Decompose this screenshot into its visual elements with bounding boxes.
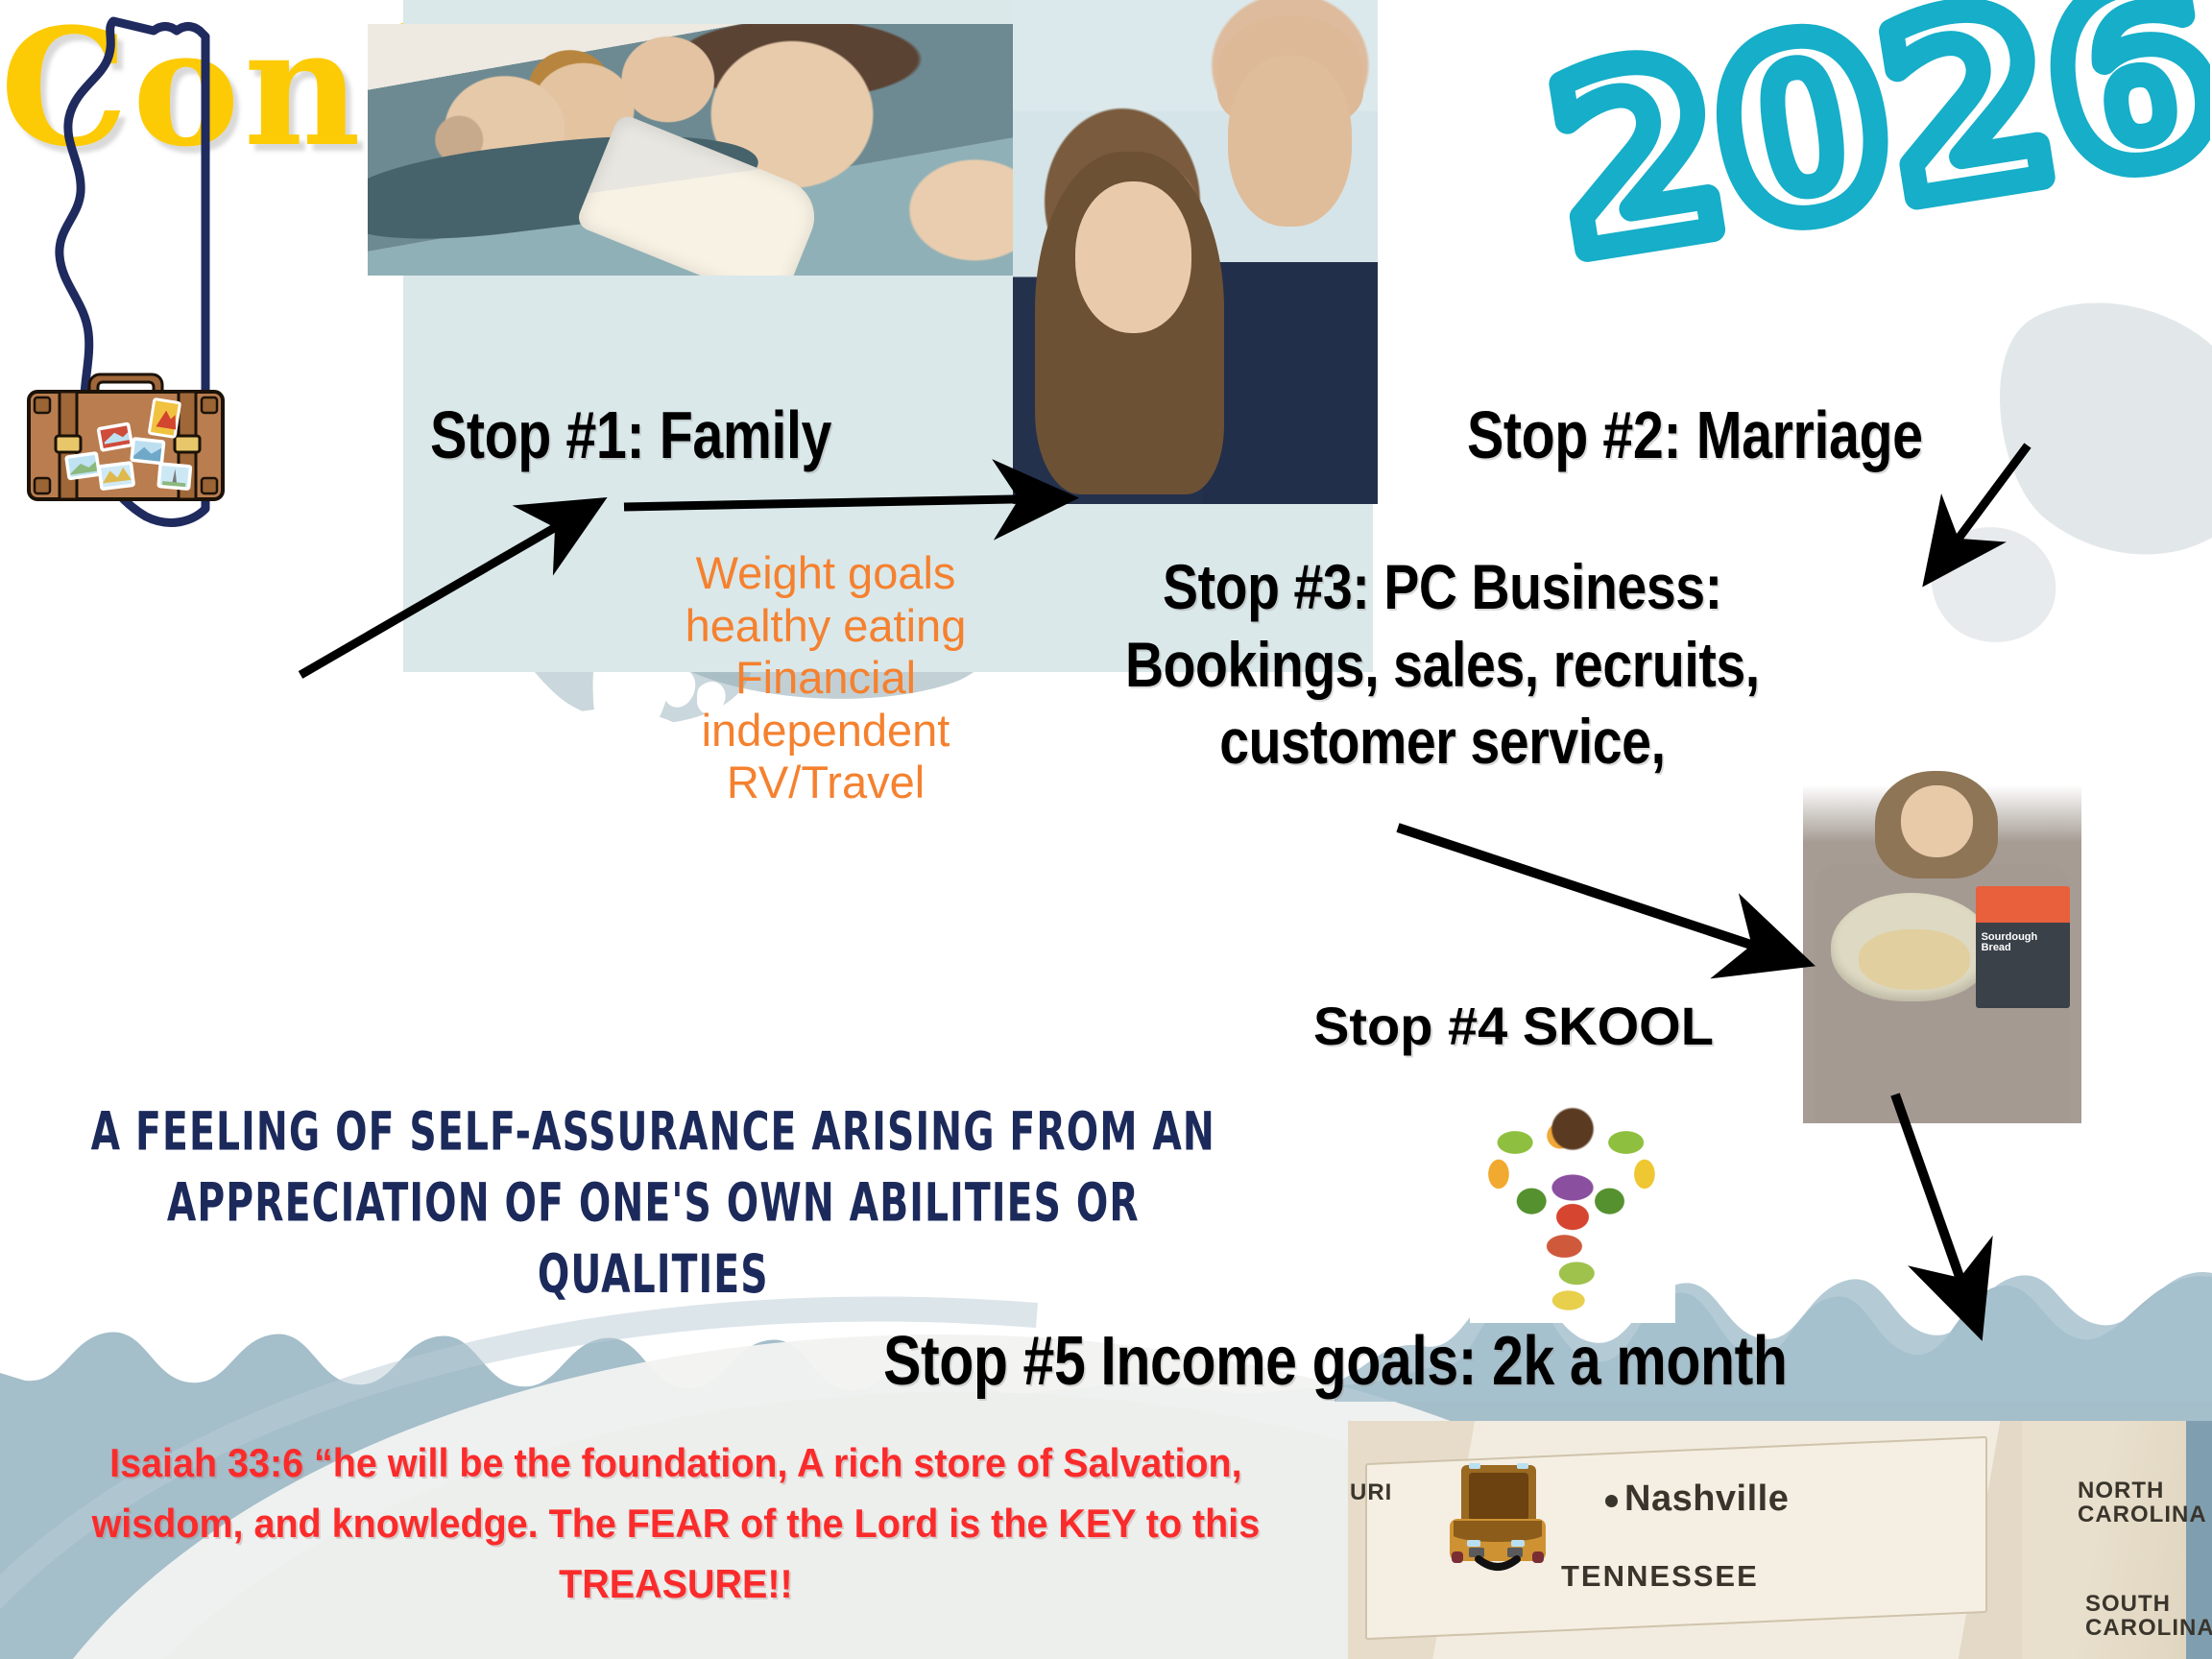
arrow-stop3-to-stop4 <box>1398 828 1797 960</box>
stop-5-label: Stop #5 Income goals: 2k a month <box>883 1327 1788 1396</box>
year-2026-heading: 2026 <box>1548 0 2210 301</box>
city-dot-icon <box>1605 1495 1618 1507</box>
map-label-nashville: Nashville <box>1605 1480 1789 1519</box>
stop-4-label: Stop #4 SKOOL <box>1313 999 1714 1053</box>
map-label-missouri: URI <box>1350 1480 1392 1504</box>
map-label-tennessee: TENNESSEE <box>1561 1561 1759 1593</box>
map-label-north-carolina: NORTH CAROLINA <box>2078 1479 2207 1527</box>
vintage-suitcase-sticker-icon <box>21 353 230 507</box>
stop-3-label: Stop #3: PC Business: Bookings, sales, r… <box>1125 548 1760 781</box>
stop-1-label: Stop #1: Family <box>430 401 831 469</box>
family-selfie-photo <box>368 24 1021 276</box>
scripture-verse: Isaiah 33:6 “he will be the foundation, … <box>58 1432 1294 1614</box>
sourdough-package-label: Sourdough Bread <box>1982 932 2065 965</box>
arrow-stop4-to-stop5 <box>1895 1094 1976 1323</box>
couple-portrait-photo <box>1013 0 1378 504</box>
stop-2-label: Stop #2: Marriage <box>1467 401 1923 469</box>
arrow-suitcase-to-stop1 <box>301 506 592 675</box>
confidence-definition: A FEELING OF SELF-ASSURANCE ARISING FROM… <box>19 1097 1287 1311</box>
map-label-south-carolina: SOUTH CAROLINA <box>2085 1592 2212 1640</box>
arrow-stop1-to-stop2 <box>624 498 1062 507</box>
open-suitcase-sticker-icon <box>1440 1459 1565 1573</box>
vegetable-strongman-graphic <box>1470 1097 1675 1323</box>
sourdough-baking-photo: Sourdough Bread <box>1803 763 2081 1123</box>
vision-board: 2026 Sourdough Bread URI Nashville TENNE <box>0 0 2212 1659</box>
year-2026-text: 2026 <box>1548 0 2210 301</box>
arrow-stop2-to-stop3 <box>1933 445 2028 573</box>
personal-goals-list: Weight goals healthy eating Financial in… <box>682 547 970 809</box>
